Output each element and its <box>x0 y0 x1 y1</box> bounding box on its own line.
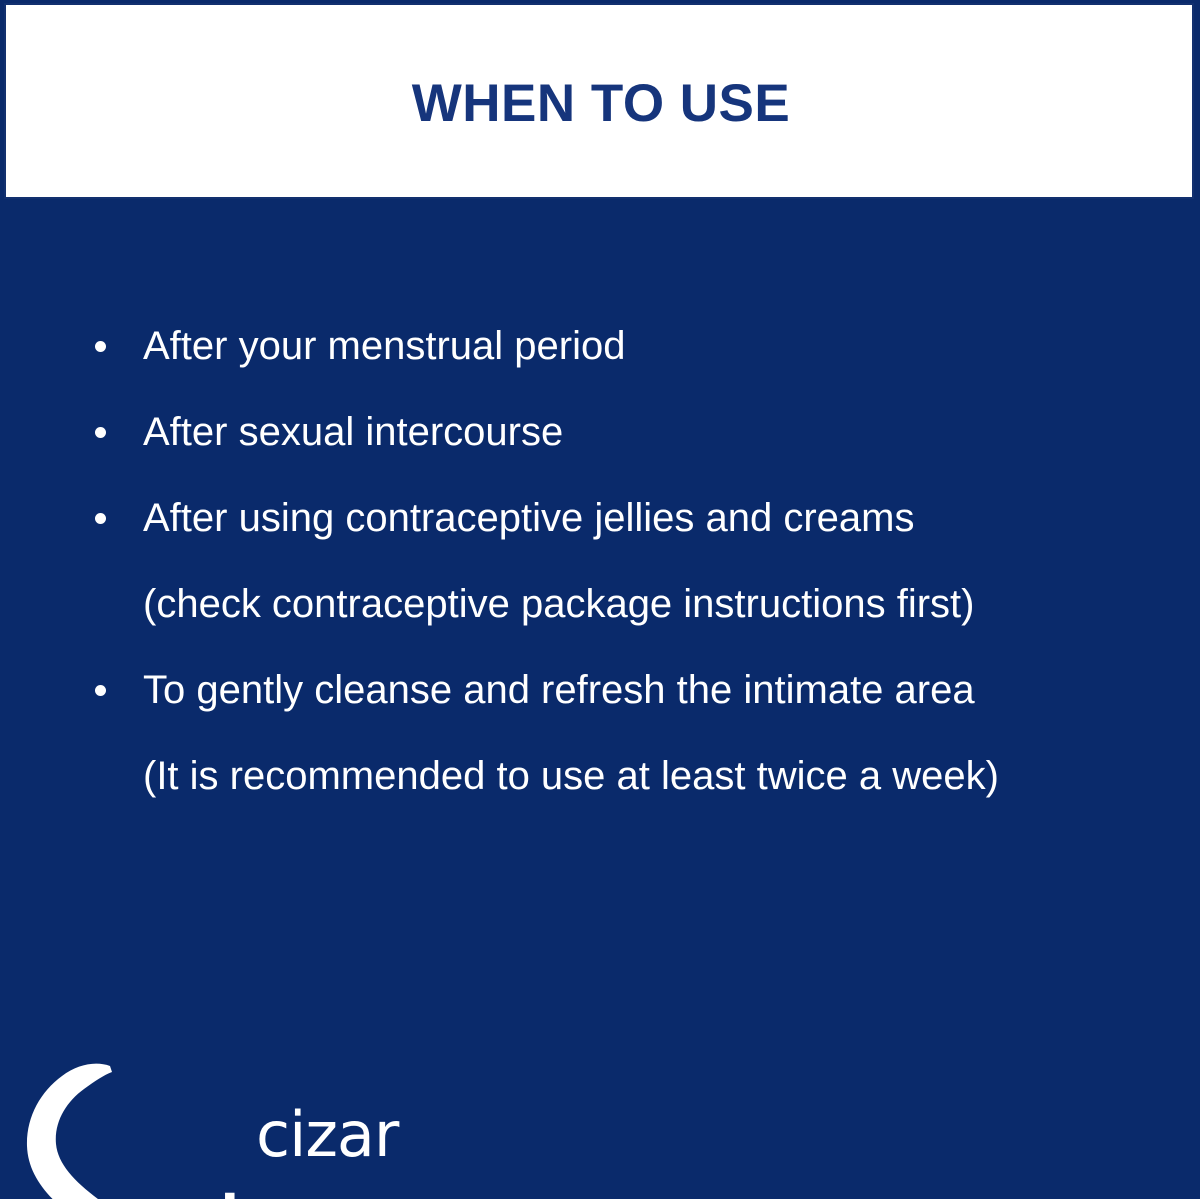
page-title: WHEN TO USE <box>6 5 1196 201</box>
bullet-dot-icon <box>95 685 106 696</box>
bullet-list: After your menstrual period After sexual… <box>0 303 1200 819</box>
brand-logo: cizar e Lava <box>0 1058 470 1199</box>
bullet-dot-icon <box>95 513 106 524</box>
header-band: WHEN TO USE <box>0 0 1200 203</box>
list-item-continuation: (check contraceptive package instruction… <box>0 561 1200 647</box>
content-area: After your menstrual period After sexual… <box>0 203 1200 1199</box>
list-item-label: After using contraceptive jellies and cr… <box>143 497 914 539</box>
bullet-dot-icon <box>95 427 106 438</box>
list-item-label: After sexual intercourse <box>143 411 563 453</box>
list-item-label: To gently cleanse and refresh the intima… <box>143 669 975 711</box>
list-item-label: After your menstrual period <box>143 325 625 367</box>
list-item: After using contraceptive jellies and cr… <box>0 475 1200 561</box>
list-item-label: (It is recommended to use at least twice… <box>143 755 999 797</box>
list-item-label: (check contraceptive package instruction… <box>143 583 974 625</box>
brand-logo-svg: cizar e Lava <box>0 1058 470 1199</box>
slide-canvas: WHEN TO USE After your menstrual period … <box>0 0 1200 1199</box>
list-item: After sexual intercourse <box>0 389 1200 475</box>
bullet-dot-icon <box>95 341 106 352</box>
list-item: After your menstrual period <box>0 303 1200 389</box>
logo-cizar-label: cizar <box>256 1098 400 1171</box>
list-item: To gently cleanse and refresh the intima… <box>0 647 1200 733</box>
header-card: WHEN TO USE <box>4 3 1194 199</box>
list-item-continuation: (It is recommended to use at least twice… <box>0 733 1200 819</box>
logo-elava-label: e Lava <box>128 1174 440 1199</box>
